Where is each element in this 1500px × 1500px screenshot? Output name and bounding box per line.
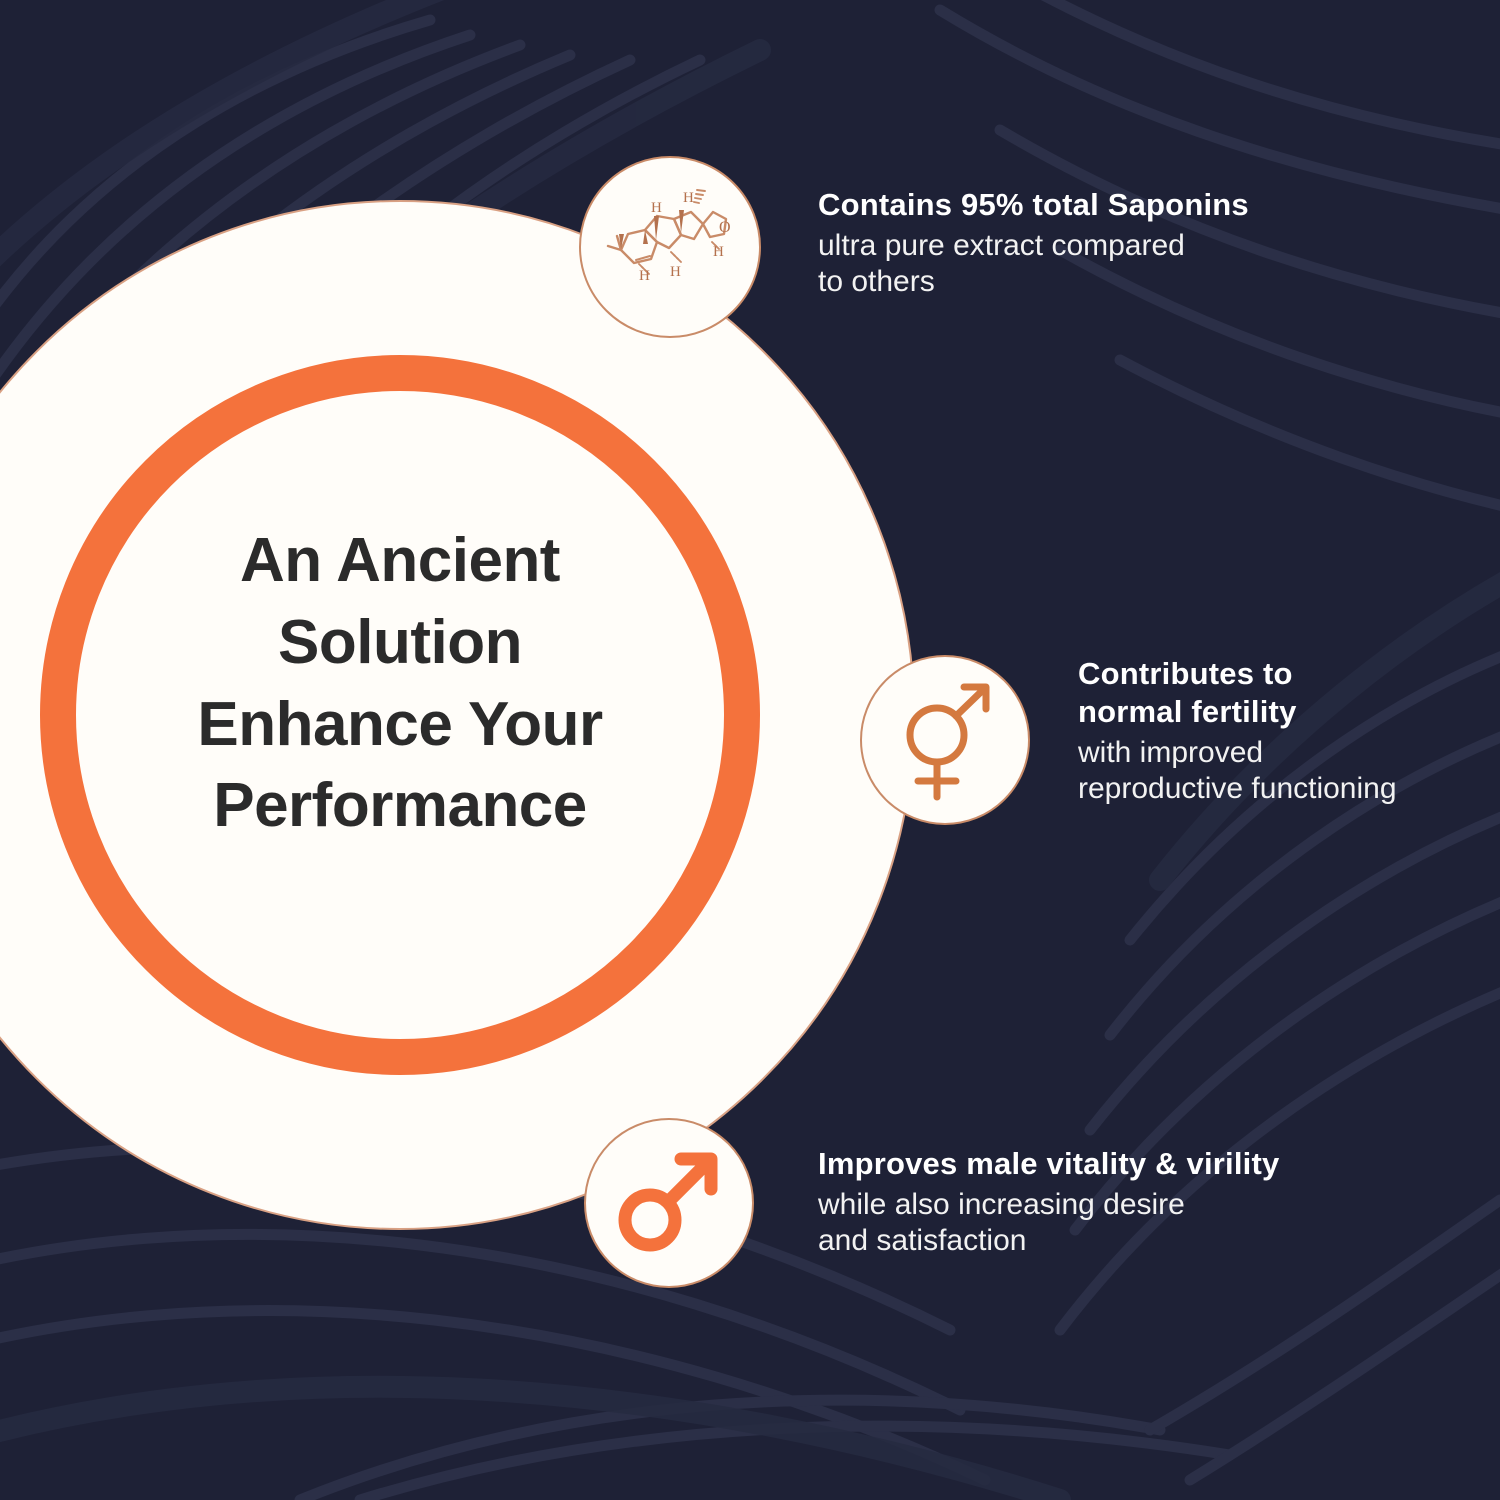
feature-sub-vitality: while also increasing desire and satisfa…	[818, 1187, 1418, 1260]
intersex-symbol-icon	[885, 677, 1005, 803]
feature-sub-saponins: ultra pure extract compared to others	[818, 228, 1378, 301]
headline-line-2: Solution	[105, 602, 695, 684]
feature-sub-line-1: while also increasing desire	[818, 1187, 1418, 1224]
svg-text:H: H	[713, 244, 724, 260]
feature-heading-fertility: Contributes to normal fertility	[1078, 655, 1478, 731]
steroid-molecule-icon: H H H H H O	[595, 172, 745, 322]
headline-line-4: Performance	[105, 765, 695, 847]
feature-sub-line-2: reproductive functioning	[1078, 771, 1478, 808]
feature-heading-saponins: Contains 95% total Saponins	[818, 186, 1378, 224]
feature-sub-line-1: ultra pure extract compared	[818, 228, 1378, 265]
feature-badge-vitality[interactable]	[584, 1118, 754, 1288]
svg-text:H: H	[670, 264, 681, 280]
feature-sub-fertility: with improved reproductive functioning	[1078, 735, 1478, 808]
feature-heading-line-2: normal fertility	[1078, 693, 1478, 731]
feature-heading-line-1: Contributes to	[1078, 655, 1478, 693]
feature-text-fertility: Contributes to normal fertility with imp…	[1078, 655, 1478, 808]
headline-line-1: An Ancient	[105, 520, 695, 602]
page-title: An Ancient Solution Enhance Your Perform…	[105, 520, 695, 847]
feature-heading-vitality: Improves male vitality & virility	[818, 1145, 1418, 1183]
infographic-canvas: An Ancient Solution Enhance Your Perform…	[0, 0, 1500, 1500]
feature-sub-line-2: to others	[818, 264, 1378, 301]
male-symbol-icon	[610, 1144, 728, 1262]
svg-text:H: H	[683, 190, 694, 206]
svg-text:O: O	[719, 219, 731, 236]
feature-sub-line-1: with improved	[1078, 735, 1478, 772]
feature-sub-line-2: and satisfaction	[818, 1223, 1418, 1260]
feature-badge-fertility[interactable]	[860, 655, 1030, 825]
feature-badge-saponins[interactable]: H H H H H O	[579, 156, 761, 338]
headline-line-3: Enhance Your	[105, 684, 695, 766]
svg-text:H: H	[639, 268, 650, 284]
feature-text-vitality: Improves male vitality & virility while …	[818, 1145, 1418, 1260]
feature-text-saponins: Contains 95% total Saponins ultra pure e…	[818, 186, 1378, 301]
svg-text:H: H	[651, 200, 662, 216]
